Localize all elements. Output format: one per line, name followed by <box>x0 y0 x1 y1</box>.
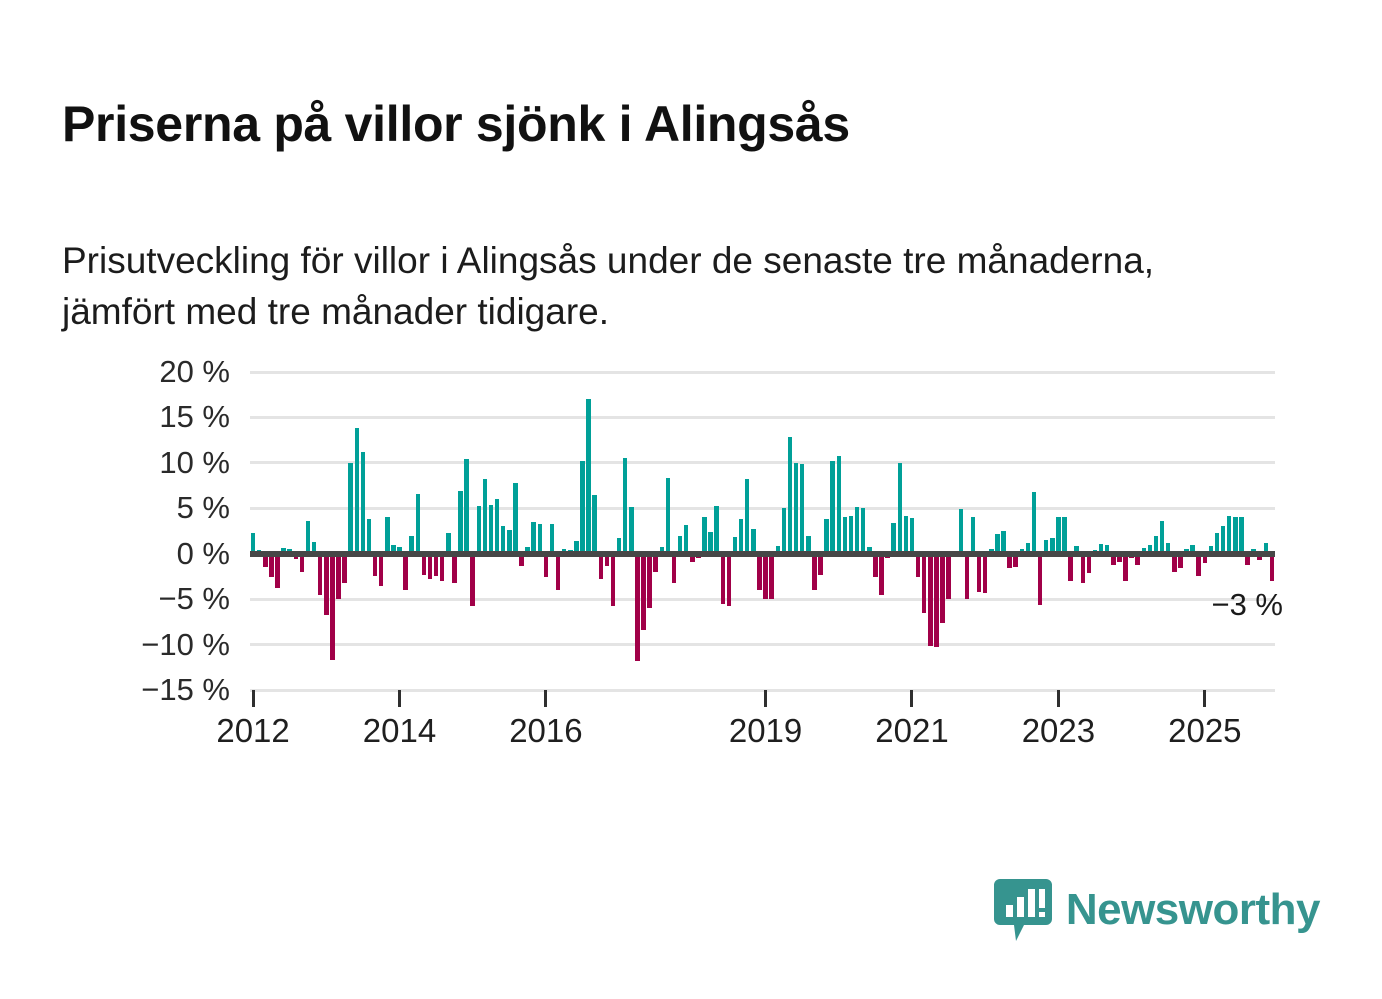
bar <box>416 494 421 554</box>
bar <box>428 554 433 579</box>
bar-series <box>250 372 1275 690</box>
y-axis-tick-label: −10 % <box>90 629 230 660</box>
bar <box>477 506 482 553</box>
x-axis-tick-label: 2025 <box>1168 712 1241 750</box>
bar <box>275 554 280 589</box>
bar <box>361 452 366 554</box>
bar <box>513 483 518 554</box>
bar <box>959 509 964 554</box>
y-axis-tick-label: 20 % <box>90 356 230 387</box>
bar <box>623 458 628 553</box>
bar <box>855 507 860 553</box>
bar <box>550 524 555 554</box>
x-axis-tick-mark <box>1057 690 1060 707</box>
y-axis-tick-label: 10 % <box>90 447 230 478</box>
bar <box>470 554 475 607</box>
bar <box>971 517 976 553</box>
bar <box>330 554 335 660</box>
bar <box>672 554 677 583</box>
bar <box>464 459 469 553</box>
y-axis-tick-label: 0 % <box>90 538 230 569</box>
page-subtitle: Prisutveckling för villor i Alingsås und… <box>62 235 1262 337</box>
bar <box>745 479 750 554</box>
bar <box>891 523 896 554</box>
bar <box>812 554 817 590</box>
newsworthy-logo: Newsworthy <box>994 879 1320 941</box>
bar <box>592 495 597 554</box>
plot-area <box>250 372 1275 690</box>
bar <box>348 463 353 554</box>
y-axis-tick-label: −5 % <box>90 583 230 614</box>
bar <box>916 554 921 578</box>
bar <box>782 508 787 553</box>
logo-wordmark: Newsworthy <box>1066 888 1320 932</box>
bar <box>714 506 719 553</box>
bar <box>1056 517 1061 553</box>
bar <box>849 516 854 554</box>
bar <box>983 554 988 593</box>
bar <box>769 554 774 599</box>
x-axis-tick-label: 2012 <box>216 712 289 750</box>
x-axis-tick-mark <box>764 690 767 707</box>
bar <box>324 554 329 616</box>
bar <box>824 519 829 554</box>
x-axis-tick-mark <box>252 690 255 707</box>
bar <box>544 554 549 578</box>
bar <box>1227 516 1232 553</box>
bar <box>1239 517 1244 553</box>
bar <box>1038 554 1043 606</box>
bar <box>1196 554 1201 576</box>
bar <box>721 554 726 604</box>
bar <box>385 517 390 553</box>
infographic-page: Priserna på villor sjönk i Alingsås Pris… <box>0 0 1382 999</box>
bar <box>940 554 945 623</box>
y-axis-tick-label: 5 % <box>90 492 230 523</box>
value-annotation: −3 % <box>1211 587 1283 623</box>
bar-chart: 20 %15 %10 %5 %0 %−5 %−10 %−15 % 2012201… <box>0 350 1382 770</box>
bar <box>306 521 311 554</box>
bar <box>946 554 951 599</box>
x-axis-tick-mark <box>398 690 401 707</box>
bar <box>1081 554 1086 583</box>
bar <box>629 507 634 553</box>
bar <box>794 463 799 554</box>
zero-axis-line <box>250 551 1275 557</box>
bar <box>739 519 744 554</box>
bar <box>910 518 915 553</box>
page-title: Priserna på villor sjönk i Alingsås <box>62 96 1322 152</box>
bar <box>531 522 536 554</box>
bar <box>318 554 323 595</box>
bar <box>1160 521 1165 554</box>
bar <box>1123 554 1128 581</box>
bar <box>556 554 561 590</box>
bar <box>666 478 671 553</box>
y-axis-tick-label: −15 % <box>90 674 230 705</box>
bar <box>1068 554 1073 581</box>
bar <box>458 491 463 554</box>
bar <box>965 554 970 599</box>
bar <box>635 554 640 661</box>
x-axis-tick-label: 2021 <box>875 712 948 750</box>
bar <box>367 519 372 554</box>
bar <box>599 554 604 579</box>
bar <box>379 554 384 587</box>
bar <box>1032 492 1037 554</box>
bar <box>922 554 927 613</box>
bar <box>355 428 360 553</box>
x-axis-tick-label: 2016 <box>509 712 582 750</box>
bar <box>843 517 848 553</box>
bar <box>934 554 939 648</box>
bar <box>641 554 646 630</box>
bar <box>763 554 768 599</box>
bar <box>904 516 909 554</box>
bar <box>452 554 457 583</box>
bar <box>788 437 793 554</box>
bar <box>611 554 616 607</box>
bar <box>684 525 689 554</box>
x-axis-tick-mark <box>1203 690 1206 707</box>
bar-chart-speech-bubble-icon <box>994 879 1052 941</box>
x-axis-tick-label: 2023 <box>1022 712 1095 750</box>
bar <box>580 461 585 554</box>
bar <box>269 554 274 578</box>
bar <box>1221 526 1226 553</box>
bar <box>727 554 732 607</box>
x-axis: 2012201420162019202120232025 <box>250 690 1275 760</box>
x-axis-tick-mark <box>544 690 547 707</box>
bar <box>818 554 823 575</box>
bar <box>757 554 762 590</box>
bar <box>702 517 707 553</box>
bar <box>837 456 842 554</box>
x-axis-tick-label: 2019 <box>729 712 802 750</box>
bar <box>483 479 488 554</box>
bar <box>403 554 408 590</box>
bar <box>489 505 494 554</box>
bar <box>977 554 982 592</box>
bar <box>336 554 341 599</box>
bar <box>1062 517 1067 553</box>
bar <box>586 399 591 553</box>
y-axis-tick-label: 15 % <box>90 401 230 432</box>
bar <box>647 554 652 609</box>
bar <box>879 554 884 595</box>
bar <box>898 463 903 554</box>
bar <box>440 554 445 581</box>
bar <box>434 554 439 576</box>
bar <box>861 508 866 553</box>
x-axis-tick-mark <box>910 690 913 707</box>
bar <box>928 554 933 647</box>
bar <box>342 554 347 583</box>
bar <box>1233 517 1238 553</box>
bar <box>538 524 543 554</box>
bar <box>422 554 427 575</box>
bar <box>1270 554 1275 581</box>
bar <box>800 464 805 554</box>
bar <box>873 554 878 578</box>
bar <box>373 554 378 577</box>
bar <box>501 526 506 553</box>
x-axis-tick-label: 2014 <box>363 712 436 750</box>
bar <box>495 499 500 554</box>
bar <box>830 461 835 554</box>
